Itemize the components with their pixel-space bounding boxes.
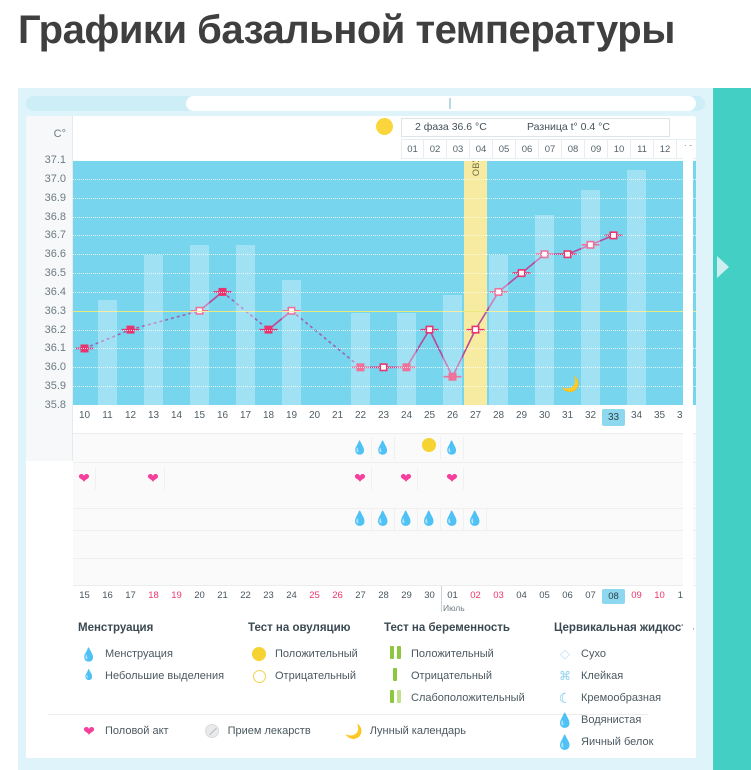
moon-icon: 🌙: [345, 724, 362, 738]
chevron-right-icon[interactable]: [717, 256, 729, 278]
eggwhite-drop-icon: 💧: [466, 510, 483, 526]
y-axis-tick: 36.5: [45, 267, 66, 279]
phase-day-cell: 10: [608, 139, 631, 159]
x-axis-tick[interactable]: 14: [165, 410, 188, 421]
legend-item: ☾Кремообразная: [554, 687, 694, 709]
yellow-dot-icon: [376, 118, 393, 135]
phase-day-cell: 01: [401, 139, 424, 159]
legend-item-label: Водянистая: [581, 714, 641, 726]
gridline: [73, 292, 696, 293]
y-axis-tick: 36.6: [45, 248, 66, 260]
date-cell[interactable]: 23: [257, 590, 280, 601]
x-axis-tick[interactable]: 15: [188, 410, 211, 421]
date-cell[interactable]: 16: [96, 590, 119, 601]
legend-bottom-row: ❤Половой актПрием лекарств🌙Лунный календ…: [78, 724, 498, 738]
heart-icon: ❤: [354, 470, 366, 486]
menstruation-marker[interactable]: 💧: [441, 437, 464, 459]
intercourse-marker[interactable]: ❤: [441, 468, 464, 490]
x-axis-tick[interactable]: 33: [602, 409, 625, 426]
phase-day-cell: 11: [631, 139, 654, 159]
x-axis-tick[interactable]: 20: [303, 410, 326, 421]
phase-label: 2 фаза 36.6 °C: [415, 119, 487, 136]
day-column-bar: [627, 170, 646, 405]
gridline: [73, 330, 696, 331]
date-cell[interactable]: 21: [211, 590, 234, 601]
month-name: Июль: [443, 603, 465, 613]
legend-item-label: Сухо: [581, 648, 606, 660]
gridline: [73, 254, 696, 255]
y-axis-tick: 36.4: [45, 286, 66, 298]
legend-column: Менструация💧Менструация💧Небольшие выделе…: [78, 622, 224, 687]
phase-day-cell: 07: [539, 139, 562, 159]
x-axis-tick[interactable]: 22: [349, 410, 372, 421]
menstruation-marker[interactable]: 💧: [349, 437, 372, 459]
date-cell[interactable]: 04: [510, 590, 533, 601]
legend-heading: Цервикальная жидкость: [554, 622, 694, 634]
x-axis-tick[interactable]: 24: [395, 410, 418, 421]
cervical-fluid-marker[interactable]: 💧: [372, 508, 395, 530]
x-axis-tick[interactable]: 21: [326, 410, 349, 421]
phase-day-cell: 03: [447, 139, 470, 159]
creamy-half-drop-icon: ☾: [559, 691, 572, 705]
day-column-bar: [282, 280, 301, 405]
intercourse-marker[interactable]: ❤: [142, 468, 165, 490]
date-cell[interactable]: 22: [234, 590, 257, 601]
date-cell[interactable]: 18: [142, 590, 165, 601]
gridline: [73, 235, 696, 236]
intercourse-marker[interactable]: ❤: [395, 468, 418, 490]
x-axis-tick[interactable]: 31: [556, 410, 579, 421]
y-axis-tick: 36.8: [45, 211, 66, 223]
phase-day-cell: 02: [424, 139, 447, 159]
phase-day-cell: 06: [516, 139, 539, 159]
scrollbar-grip-icon: [449, 98, 451, 109]
x-axis-tick[interactable]: 10: [73, 410, 96, 421]
y-axis-tick: 37.0: [45, 173, 66, 185]
blood-drop-small-icon: 💧: [83, 671, 95, 681]
legend-item: 💧Небольшие выделения: [78, 665, 224, 687]
phase-day-cell: 05: [493, 139, 516, 159]
x-axis-tick[interactable]: 27: [464, 410, 487, 421]
legend-item-label: Яичный белок: [581, 736, 653, 748]
phase-day-cell: 04: [470, 139, 493, 159]
y-axis-tick: 36.7: [45, 229, 66, 241]
legend-item: 💧Яичный белок: [554, 731, 694, 753]
date-cell[interactable]: 24: [280, 590, 303, 601]
legend-item: ⌘Клейкая: [554, 665, 694, 687]
temperature-chart: C° 37.137.036.936.836.736.636.536.436.33…: [26, 116, 696, 461]
legend-item: 🌙Лунный календарь: [343, 724, 466, 738]
chart-legend: Менструация💧Менструация💧Небольшие выделе…: [26, 616, 696, 762]
filled-circle-icon: [422, 438, 436, 452]
date-cell[interactable]: 29: [395, 590, 418, 601]
month-separator: [441, 586, 442, 612]
x-axis-tick[interactable]: 28: [487, 410, 510, 421]
phase-info-box: 2 фаза 36.6 °C Разница t° 0.4 °C: [401, 118, 670, 137]
day-column-bar: [236, 245, 255, 405]
day-column-bar: [351, 313, 370, 405]
y-axis-tick: 36.0: [45, 361, 66, 373]
gridline: [73, 348, 696, 349]
x-axis-tick[interactable]: 11: [96, 410, 119, 421]
gridline: [73, 160, 696, 161]
horizontal-scrollbar-thumb[interactable]: [186, 96, 696, 111]
legend-heading: Тест на беременность: [384, 622, 525, 634]
date-cell[interactable]: 26: [326, 590, 349, 601]
date-cell[interactable]: 01: [441, 590, 464, 601]
x-axis-tick[interactable]: 13: [142, 410, 165, 421]
date-cell[interactable]: 17: [119, 590, 142, 601]
eggwhite-drop-icon: 💧: [351, 510, 368, 526]
y-axis-tick: 36.9: [45, 192, 66, 204]
legend-item-label: Лунный календарь: [370, 725, 466, 737]
legend-item-label: Кремообразная: [581, 692, 661, 704]
day-column-bar: [397, 313, 416, 405]
legend-item: 💧Водянистая: [554, 709, 694, 731]
date-cell[interactable]: 30: [418, 590, 441, 601]
x-axis-tick[interactable]: 30: [533, 410, 556, 421]
pane-bottom-edge: [18, 758, 713, 770]
legend-column: Цервикальная жидкость◇Сухо⌘Клейкая☾Кремо…: [554, 622, 694, 753]
ovulation-test-marker[interactable]: [418, 437, 441, 459]
phase-header-strip: 2 фаза 36.6 °C Разница t° 0.4 °C 0102030…: [73, 116, 696, 160]
difference-label: Разница t° 0.4 °C: [527, 119, 610, 136]
date-cell[interactable]: 27: [349, 590, 372, 601]
legend-item: Отрицательный: [248, 665, 358, 687]
gridline: [73, 273, 696, 274]
date-cell[interactable]: 07: [579, 590, 602, 601]
legend-item-label: Положительный: [275, 648, 358, 660]
two-bars-icon: [390, 646, 401, 662]
date-cell[interactable]: 19: [165, 590, 188, 601]
legend-item: Положительный: [248, 643, 358, 665]
right-accent-strip: [713, 88, 751, 770]
legend-item: Отрицательный: [384, 665, 525, 687]
sticky-hourglass-icon: ⌘: [559, 669, 571, 683]
legend-item: ❤Половой акт: [78, 724, 169, 738]
y-axis-tick: 35.8: [45, 399, 66, 411]
legend-item-label: Менструация: [105, 648, 173, 660]
phase-day-numbers: 0102030405060708091011121314: [401, 139, 696, 159]
gridline: [73, 367, 696, 368]
calendar-date-row[interactable]: 1516171819202122232425262728293001Июль02…: [73, 585, 696, 611]
phase-day-cell: 09: [585, 139, 608, 159]
day-column-bar: [443, 295, 462, 405]
intercourse-marker[interactable]: ❤: [73, 468, 96, 490]
day-column-bar: [98, 300, 117, 405]
legend-item: Прием лекарств: [201, 724, 311, 738]
phase-day-cell: 08: [562, 139, 585, 159]
gridline: [73, 311, 696, 312]
gridline: [73, 179, 696, 180]
pill-icon: [205, 724, 219, 738]
y-axis-tick: 36.1: [45, 342, 66, 354]
cervical-fluid-marker[interactable]: 💧: [464, 508, 487, 530]
filled-circle-icon: [252, 647, 266, 661]
one-bar-icon: [393, 668, 397, 684]
gridline: [73, 198, 696, 199]
legend-item-label: Половой акт: [105, 725, 169, 737]
chart-card: C° 37.137.036.936.836.736.636.536.436.33…: [26, 116, 696, 762]
heart-icon: ❤: [78, 470, 90, 486]
symbol-row-divider: [73, 462, 696, 463]
x-axis-tick[interactable]: 29: [510, 410, 533, 421]
menstruation-marker[interactable]: 💧: [372, 437, 395, 459]
date-cell[interactable]: 03: [487, 590, 510, 601]
daily-symbols-grid[interactable]: 💧💧💧❤❤❤❤❤💧💧💧💧💧💧: [73, 433, 696, 585]
x-axis-tick[interactable]: 16: [211, 410, 234, 421]
legend-column: Тест на беременностьПоложительныйОтрицат…: [384, 622, 525, 709]
blood-drop-icon: 💧: [352, 440, 368, 455]
gridline: [73, 217, 696, 218]
date-cell[interactable]: 09: [625, 590, 648, 601]
day-column-bar: [190, 245, 209, 405]
bar-and-faint-bar-icon: [390, 690, 401, 706]
cervical-fluid-marker[interactable]: 💧: [395, 508, 418, 530]
day-column-bar: [144, 255, 163, 405]
legend-item: Слабоположительный: [384, 687, 525, 709]
intercourse-marker[interactable]: ❤: [349, 468, 372, 490]
chart-plot-area: ОВУЛЯЦИЯ 🌙: [73, 160, 696, 405]
symbol-row-divider: [73, 530, 696, 531]
heart-icon: ❤: [400, 470, 412, 486]
legend-item-label: Положительный: [411, 648, 494, 660]
chart-pane: C° 37.137.036.936.836.736.636.536.436.33…: [18, 88, 713, 770]
y-axis-tick: 36.3: [45, 305, 66, 317]
x-axis-day-numbers[interactable]: 1011121314151617181920212223242526272829…: [73, 405, 696, 433]
y-axis-tick: 35.9: [45, 380, 66, 392]
page-title: Графики базальной температуры: [18, 8, 675, 53]
watery-drop-icon: 💧: [556, 713, 573, 727]
x-axis-tick[interactable]: 12: [119, 410, 142, 421]
legend-item-label: Клейкая: [581, 670, 623, 682]
legend-heading: Тест на овуляцию: [248, 622, 358, 634]
heart-icon: ❤: [83, 724, 95, 738]
watery-drop-icon: 💧: [420, 510, 437, 526]
phase-day-cell: 12: [654, 139, 677, 159]
day-column-bar: [581, 190, 600, 405]
day-column-bar: [489, 255, 508, 405]
legend-item: Положительный: [384, 643, 525, 665]
y-axis-labels: C° 37.137.036.936.836.736.636.536.436.33…: [26, 116, 73, 461]
gridline: [73, 386, 696, 387]
legend-heading: Менструация: [78, 622, 224, 634]
legend-column: Тест на овуляциюПоложительныйОтрицательн…: [248, 622, 358, 687]
blood-drop-icon: 💧: [375, 440, 391, 455]
x-axis-tick[interactable]: 34: [625, 410, 648, 421]
legend-item-label: Прием лекарств: [228, 725, 311, 737]
y-axis-unit: C°: [54, 128, 66, 140]
x-axis-tick[interactable]: 17: [234, 410, 257, 421]
eggwhite-drop-icon: 💧: [556, 735, 573, 749]
eggwhite-drop-icon: 💧: [374, 510, 391, 526]
date-cell[interactable]: 28: [372, 590, 395, 601]
empty-circle-icon: [253, 670, 266, 683]
watery-drop-icon: 💧: [443, 510, 460, 526]
x-axis-tick[interactable]: 32: [579, 410, 602, 421]
date-cell[interactable]: 25: [303, 590, 326, 601]
legend-item-label: Слабоположительный: [411, 692, 525, 704]
cervical-fluid-marker[interactable]: 💧: [418, 508, 441, 530]
watery-drop-icon: 💧: [397, 510, 414, 526]
date-cell[interactable]: 02: [464, 590, 487, 601]
y-axis-tick: 36.2: [45, 324, 66, 336]
date-cell[interactable]: 06: [556, 590, 579, 601]
symbol-row-divider: [73, 558, 696, 559]
x-axis-tick[interactable]: 19: [280, 410, 303, 421]
x-axis-tick[interactable]: 26: [441, 410, 464, 421]
moon-icon: 🌙: [561, 375, 580, 393]
x-axis-tick[interactable]: 35: [648, 410, 671, 421]
date-cell[interactable]: 15: [73, 590, 96, 601]
heart-icon: ❤: [147, 470, 159, 486]
legend-item-label: Отрицательный: [411, 670, 492, 682]
legend-item: ◇Сухо: [554, 643, 694, 665]
legend-item: 💧Менструация: [78, 643, 224, 665]
legend-item-label: Отрицательный: [275, 670, 356, 682]
cervical-fluid-marker[interactable]: 💧: [349, 508, 372, 530]
date-cell[interactable]: 05: [533, 590, 556, 601]
x-axis-tick[interactable]: 37: [694, 410, 696, 421]
date-cell[interactable]: 08: [602, 589, 625, 604]
day-column-bar: [535, 215, 554, 405]
heart-icon: ❤: [446, 470, 458, 486]
blood-drop-icon: 💧: [81, 648, 97, 661]
cervical-fluid-marker[interactable]: 💧: [441, 508, 464, 530]
date-cell[interactable]: 10: [648, 590, 671, 601]
blood-drop-icon: 💧: [444, 440, 460, 455]
vertical-scrollbar-track[interactable]: [683, 146, 693, 731]
x-axis-tick[interactable]: 18: [257, 410, 280, 421]
dry-outline-drop-icon: ◇: [560, 646, 570, 662]
legend-item-label: Небольшие выделения: [105, 670, 224, 682]
chart-app-frame: C° 37.137.036.936.836.736.636.536.436.33…: [18, 88, 751, 770]
y-axis-tick: 37.1: [45, 154, 66, 166]
date-cell[interactable]: 20: [188, 590, 211, 601]
x-axis-tick[interactable]: 25: [418, 410, 441, 421]
date-cell[interactable]: 12: [694, 590, 696, 601]
x-axis-tick[interactable]: 23: [372, 410, 395, 421]
